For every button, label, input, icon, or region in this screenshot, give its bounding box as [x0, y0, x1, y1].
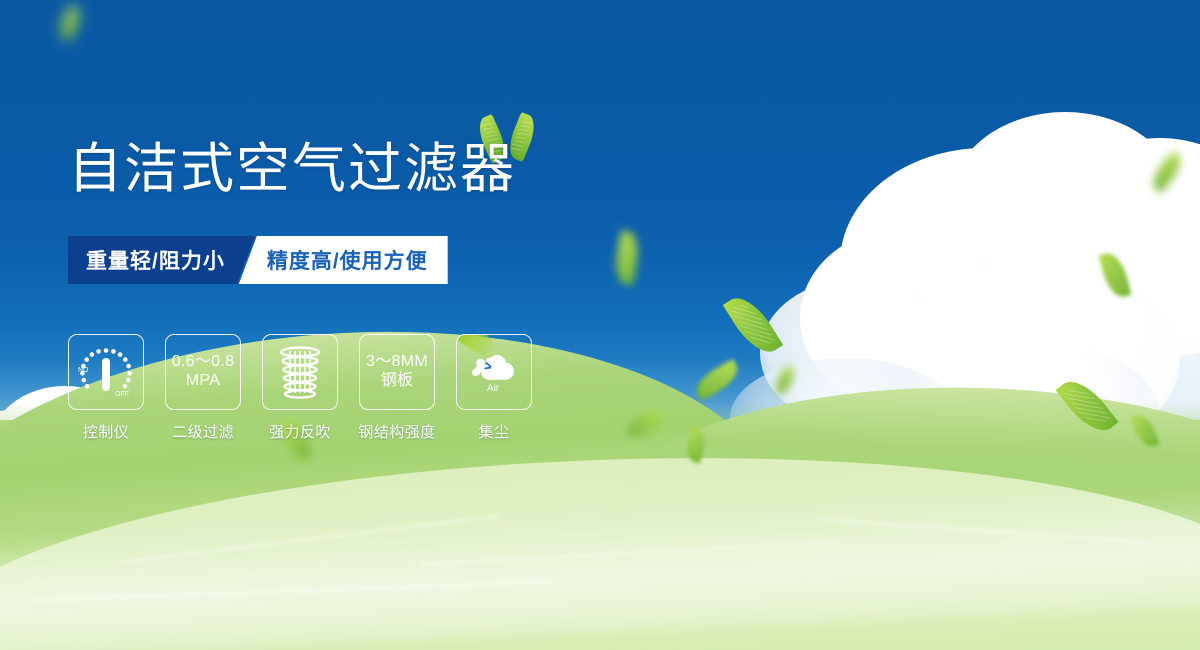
tile-text-line1: 3～8MM	[366, 353, 428, 370]
tile-text-block: 3～8MM 钢板	[366, 353, 428, 391]
feature-label: 钢结构强度	[358, 421, 436, 442]
feature-tile[interactable]: Air	[456, 334, 532, 410]
feature-item-dust-collection[interactable]: Air 集尘	[456, 334, 532, 442]
feature-tile[interactable]	[262, 334, 338, 410]
feature-label: 二级过滤	[172, 421, 234, 442]
cloud-air-caption: Air	[487, 383, 500, 392]
subtitle-left-tag: 重量轻/阻力小	[68, 236, 255, 284]
tile-text-block: 0.6～0.8 MPA	[172, 353, 235, 391]
cloud-air-icon: Air	[464, 352, 524, 392]
product-hero-banner: 自洁式空气过滤器 重量轻/阻力小 精度高/使用方便	[0, 0, 1200, 650]
filter-cartridge-icon	[272, 343, 328, 401]
tile-text-line1: 0.6～0.8	[172, 353, 235, 370]
feature-item-pulse-jet[interactable]: 强力反吹	[262, 334, 338, 442]
tile-text-line2: MPA	[172, 372, 235, 391]
feature-label: 控制仪	[83, 421, 130, 442]
tile-text-line2: 钢板	[366, 372, 428, 391]
feature-list: NO OFF 控制仪 0.6～0.8 MPA 二级过滤	[68, 334, 532, 442]
feature-item-controller[interactable]: NO OFF 控制仪	[68, 334, 144, 442]
page-title: 自洁式空气过滤器	[68, 142, 516, 196]
gauge-dial-icon: NO OFF	[75, 341, 137, 403]
feature-tile[interactable]: NO OFF	[68, 334, 144, 410]
gauge-mark-no: NO	[78, 367, 89, 374]
subtitle-bar: 重量轻/阻力小 精度高/使用方便	[68, 236, 448, 284]
feature-tile[interactable]: 0.6～0.8 MPA	[165, 334, 241, 410]
feature-tile[interactable]: 3～8MM 钢板	[359, 334, 435, 410]
gauge-mark-off: OFF	[115, 391, 129, 398]
feature-label: 强力反吹	[269, 421, 331, 442]
feature-item-two-stage-filter[interactable]: 0.6～0.8 MPA 二级过滤	[165, 334, 241, 442]
feature-label: 集尘	[478, 421, 509, 442]
subtitle-right-tag: 精度高/使用方便	[239, 236, 448, 284]
feature-item-steel-strength[interactable]: 3～8MM 钢板 钢结构强度	[359, 334, 435, 442]
